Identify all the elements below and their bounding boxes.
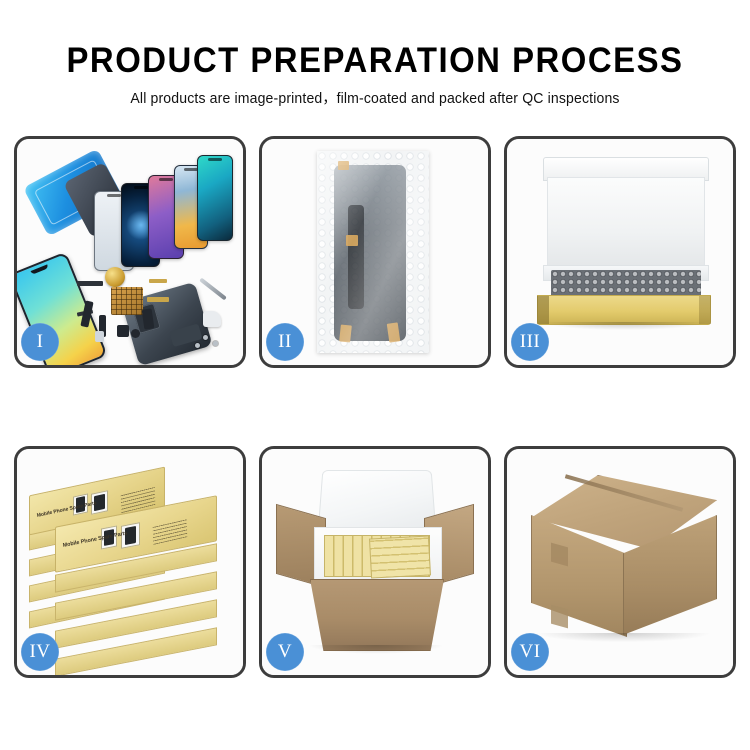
- box-stack: Mobile Phone Spare Parts Mobile Phone Sp…: [25, 467, 241, 659]
- drop-shadow: [537, 633, 709, 642]
- step-badge-6: VI: [511, 633, 549, 671]
- drop-shadow: [543, 322, 705, 330]
- step-badge-5: V: [266, 633, 304, 671]
- tweezers-tool: [199, 278, 227, 301]
- repair-tool: [203, 311, 221, 327]
- page-title: PRODUCT PREPARATION PROCESS: [23, 40, 728, 82]
- process-step-grid: I II: [14, 136, 736, 678]
- screw: [203, 335, 208, 340]
- styrofoam-lid: [317, 470, 436, 535]
- process-step-1: I: [14, 136, 246, 368]
- page-subtitle: All products are image-printed，film-coat…: [11, 89, 739, 109]
- tape-piece: [339, 324, 352, 342]
- step-badge-4: IV: [21, 633, 59, 671]
- screw: [195, 343, 200, 348]
- step-badge-3: III: [511, 323, 549, 361]
- phone-screen-teal: [197, 155, 233, 241]
- speaker-part: [77, 281, 103, 286]
- bubble-wrapped-contents: [551, 270, 701, 298]
- bubble-wrap-sheet: [317, 151, 429, 353]
- gold-flex-strip: [147, 297, 169, 302]
- tape-patch-bottom: [551, 605, 568, 629]
- yellow-box-front: [537, 295, 711, 325]
- notch: [208, 158, 222, 161]
- vibration-motor: [131, 329, 140, 338]
- process-step-6: VI: [504, 446, 736, 678]
- process-step-3: III: [504, 136, 736, 368]
- sim-tray: [95, 331, 104, 342]
- notch: [107, 194, 121, 197]
- wireless-charging-coil: [105, 267, 125, 287]
- screw: [213, 341, 218, 346]
- notch: [184, 168, 198, 171]
- notch: [134, 186, 148, 189]
- step-badge-2: II: [266, 323, 304, 361]
- process-step-5: V: [259, 446, 491, 678]
- wrapped-screen-assembly: [334, 165, 406, 341]
- process-step-2: II: [259, 136, 491, 368]
- tape-piece: [346, 235, 358, 246]
- camera-module: [117, 325, 129, 337]
- yellow-boxes-row-2: [369, 535, 431, 578]
- notch: [159, 178, 173, 181]
- carton-front-panel: [310, 579, 444, 651]
- product-preparation-infographic: PRODUCT PREPARATION PROCESS All products…: [0, 0, 750, 750]
- gold-connector: [149, 279, 167, 283]
- foam-back-panel: [547, 177, 705, 269]
- drop-shadow: [308, 645, 444, 654]
- logic-board-chip: [111, 287, 143, 315]
- tape-piece: [338, 161, 349, 170]
- process-step-4: Mobile Phone Spare Parts Mobile Phone Sp…: [14, 446, 246, 678]
- step-badge-1: I: [21, 323, 59, 361]
- header: PRODUCT PREPARATION PROCESS All products…: [0, 0, 750, 109]
